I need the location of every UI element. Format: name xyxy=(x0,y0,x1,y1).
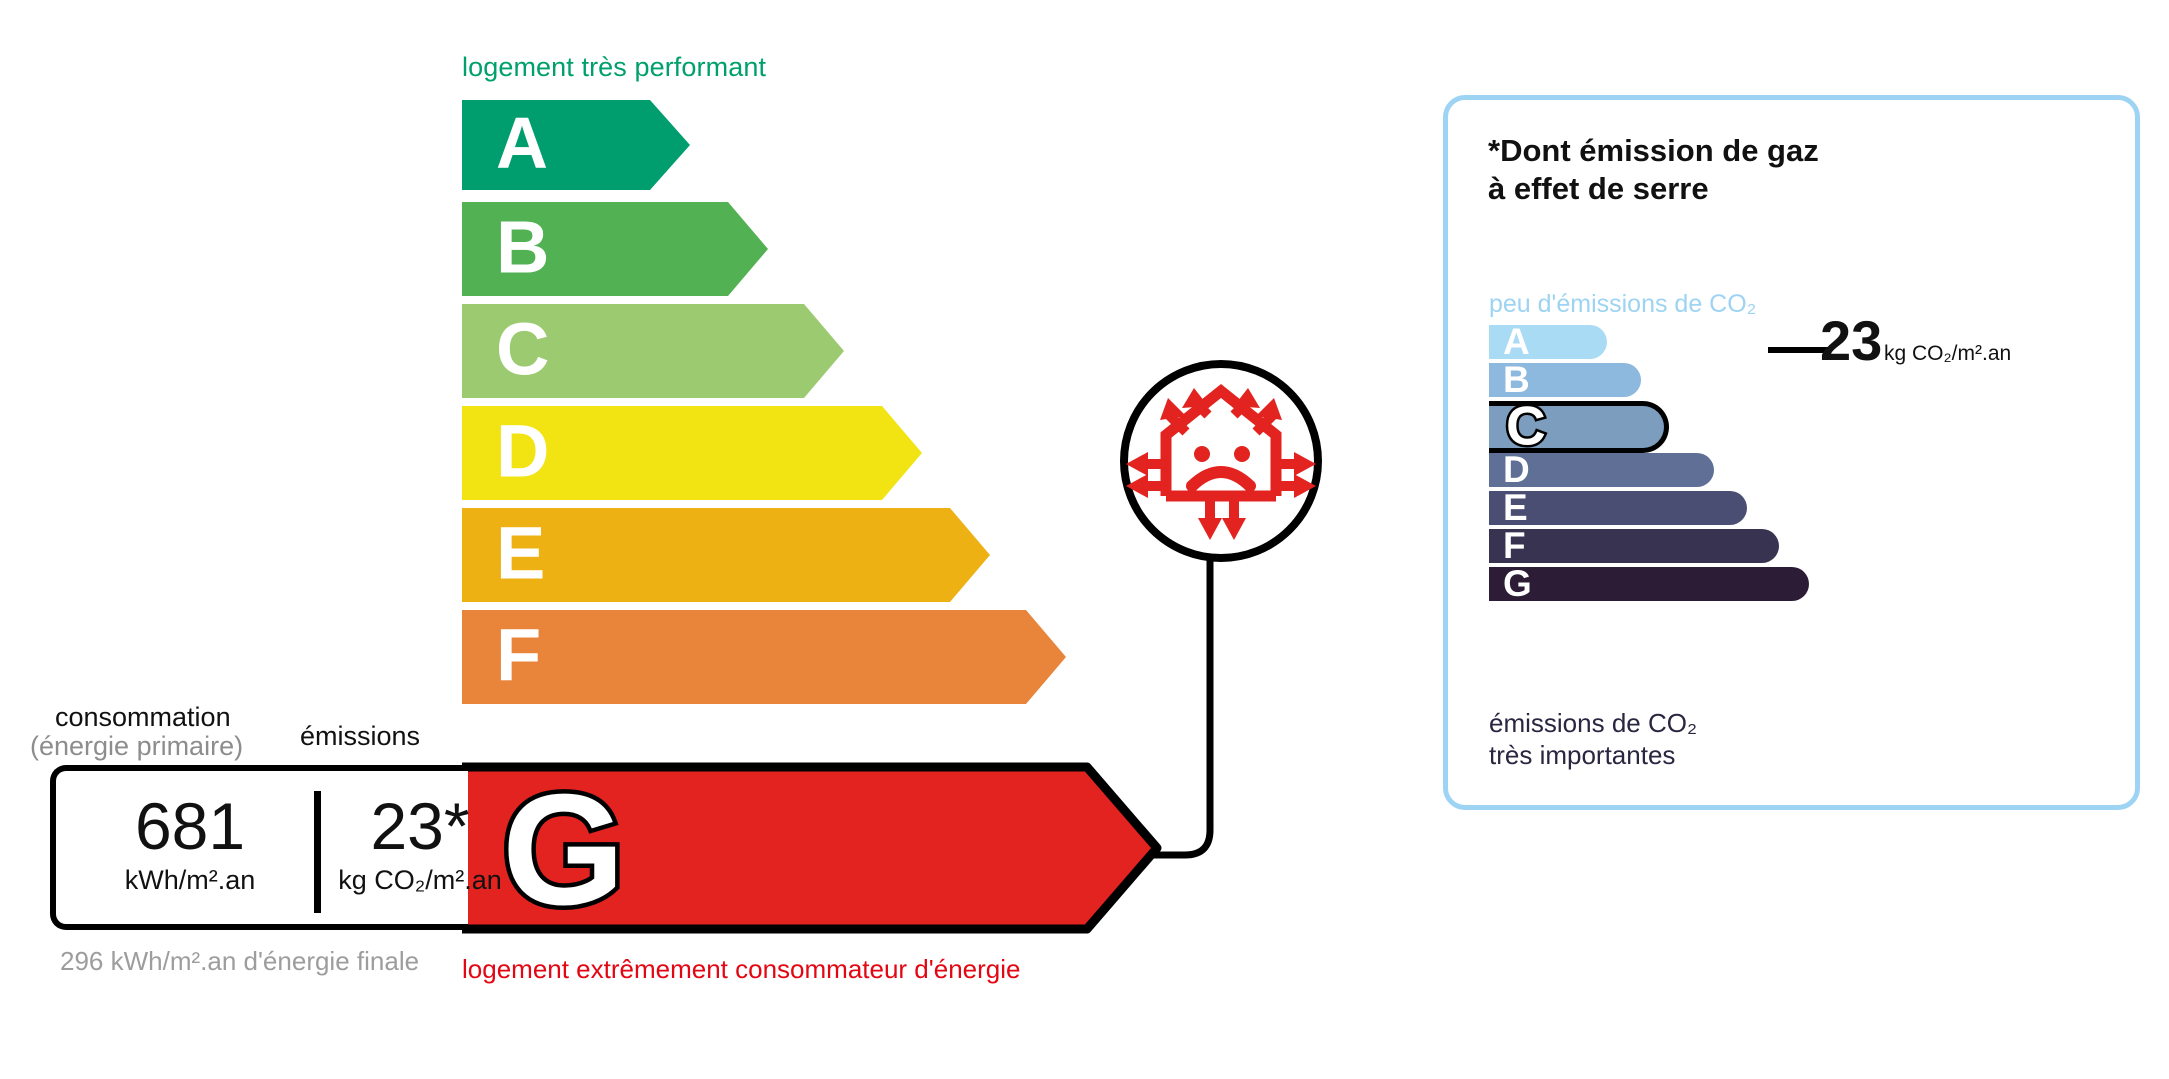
primary-energy-value: 681 xyxy=(66,793,314,859)
energy-top-label: logement très performant xyxy=(462,52,766,83)
co2-emission-value: 23* xyxy=(322,793,518,859)
co2-panel-unit: kg CO₂/m².an xyxy=(1884,342,2011,366)
co2-panel-value: 23 xyxy=(1820,313,1882,369)
energy-band-d: D xyxy=(462,406,922,500)
co2-band-letter: A xyxy=(1503,323,1530,360)
co2-band-letter: C xyxy=(1506,398,1546,453)
energy-band-c: C xyxy=(462,304,844,398)
co2-panel: *Dont émission de gaz à effet de serre p… xyxy=(1443,95,2140,810)
co2-band-letter: G xyxy=(1503,565,1532,602)
energy-band-g: G xyxy=(462,762,1162,934)
co2-panel-title: *Dont émission de gaz à effet de serre xyxy=(1488,132,1819,208)
dpe-energy-label: logement très performant ABCDEF G 681 kW… xyxy=(0,0,2169,1079)
co2-bottom-label: émissions de CO₂ très importantes xyxy=(1489,708,1697,771)
label-emissions: émissions xyxy=(300,721,420,752)
co2-emission-cell: 23* kg CO₂/m².an xyxy=(322,793,518,896)
co2-top-label: peu d'émissions de CO₂ xyxy=(1489,290,1756,319)
value-box: 681 kWh/m².an 23* kg CO₂/m².an xyxy=(50,765,468,930)
primary-energy-cell: 681 kWh/m².an xyxy=(66,793,314,896)
label-consumption: consommation xyxy=(55,702,231,733)
g-letter: G xyxy=(502,762,625,934)
energy-band-a: A xyxy=(462,100,690,190)
energy-band-letter: C xyxy=(496,313,549,387)
energy-band-letter: B xyxy=(496,211,549,285)
energy-band-letter: F xyxy=(496,619,541,693)
co2-emission-unit: kg CO₂/m².an xyxy=(322,865,518,896)
primary-energy-unit: kWh/m².an xyxy=(66,865,314,896)
sad-house-energy-loss-icon xyxy=(1118,358,1324,564)
co2-band-letter: B xyxy=(1503,361,1530,398)
co2-band-e: E xyxy=(1489,491,1747,525)
energy-band-f: F xyxy=(462,610,1066,704)
co2-band-letter: E xyxy=(1503,489,1528,526)
label-consumption-sub: (énergie primaire) xyxy=(30,731,243,762)
final-energy-note: 296 kWh/m².an d'énergie finale xyxy=(60,945,419,978)
co2-band-a: A xyxy=(1489,325,1607,359)
value-divider xyxy=(314,791,321,913)
co2-band-f: F xyxy=(1489,529,1779,563)
energy-band-letter: E xyxy=(496,517,545,591)
co2-band-c: C xyxy=(1489,401,1669,453)
co2-band-g: G xyxy=(1489,567,1809,601)
energy-band-letter: D xyxy=(496,415,549,489)
energy-bottom-label: logement extrêmement consommateur d'éner… xyxy=(462,953,1020,986)
energy-band-letter: A xyxy=(496,108,548,180)
co2-band-letter: D xyxy=(1503,451,1530,488)
energy-band-b: B xyxy=(462,202,768,296)
co2-band-b: B xyxy=(1489,363,1641,397)
co2-band-letter: F xyxy=(1503,527,1526,564)
co2-band-d: D xyxy=(1489,453,1714,487)
energy-band-e: E xyxy=(462,508,990,602)
